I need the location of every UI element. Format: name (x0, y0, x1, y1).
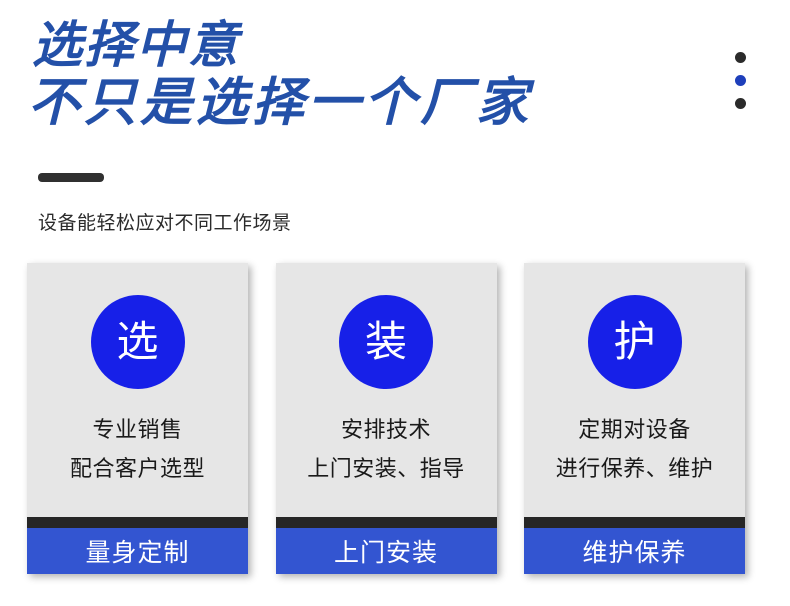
headline-block: 选择中意 不只是选择一个厂家 (28, 20, 708, 130)
card-1-body: 专业销售 配合客户选型 (70, 411, 205, 488)
card-3-badge-circle: 护 (588, 295, 682, 389)
card-3-dark-band (524, 517, 745, 528)
card-1-dark-band (27, 517, 248, 528)
card-3-body: 定期对设备 进行保养、维护 (556, 411, 714, 488)
card-1-badge-circle: 选 (91, 295, 185, 389)
card-3-badge-label: 护 (613, 321, 655, 363)
card-1-badge-label: 选 (116, 321, 158, 363)
card-1-footer-label[interactable]: 量身定制 (27, 528, 248, 574)
card-1-line-1: 专业销售 (70, 411, 205, 450)
dot-middle-icon (735, 75, 746, 86)
dot-bottom-icon (735, 98, 746, 109)
divider-dash (38, 173, 104, 182)
feature-card-3[interactable]: 护 定期对设备 进行保养、维护 维护保养 (524, 263, 745, 574)
card-2-footer-label[interactable]: 上门安装 (276, 528, 497, 574)
dot-column (735, 52, 746, 109)
feature-card-row: 选 专业销售 配合客户选型 量身定制 装 安排技术 上门安装、指导 上门安装 护… (27, 263, 745, 574)
card-2-line-1: 安排技术 (307, 411, 465, 450)
headline-line-2: 不只是选择一个厂家 (28, 78, 708, 130)
feature-card-1[interactable]: 选 专业销售 配合客户选型 量身定制 (27, 263, 248, 574)
card-3-line-2: 进行保养、维护 (556, 450, 714, 489)
card-1-line-2: 配合客户选型 (70, 450, 205, 489)
card-2-body: 安排技术 上门安装、指导 (307, 411, 465, 488)
card-2-badge-label: 装 (365, 321, 407, 363)
card-2-dark-band (276, 517, 497, 528)
headline-line-1: 选择中意 (32, 20, 708, 70)
card-3-line-1: 定期对设备 (556, 411, 714, 450)
subtitle: 设备能轻松应对不同工作场景 (38, 208, 292, 235)
card-2-line-2: 上门安装、指导 (307, 450, 465, 489)
card-2-badge-circle: 装 (339, 295, 433, 389)
feature-card-2[interactable]: 装 安排技术 上门安装、指导 上门安装 (276, 263, 497, 574)
dot-top-icon (735, 52, 746, 63)
card-3-footer-label[interactable]: 维护保养 (524, 528, 745, 574)
